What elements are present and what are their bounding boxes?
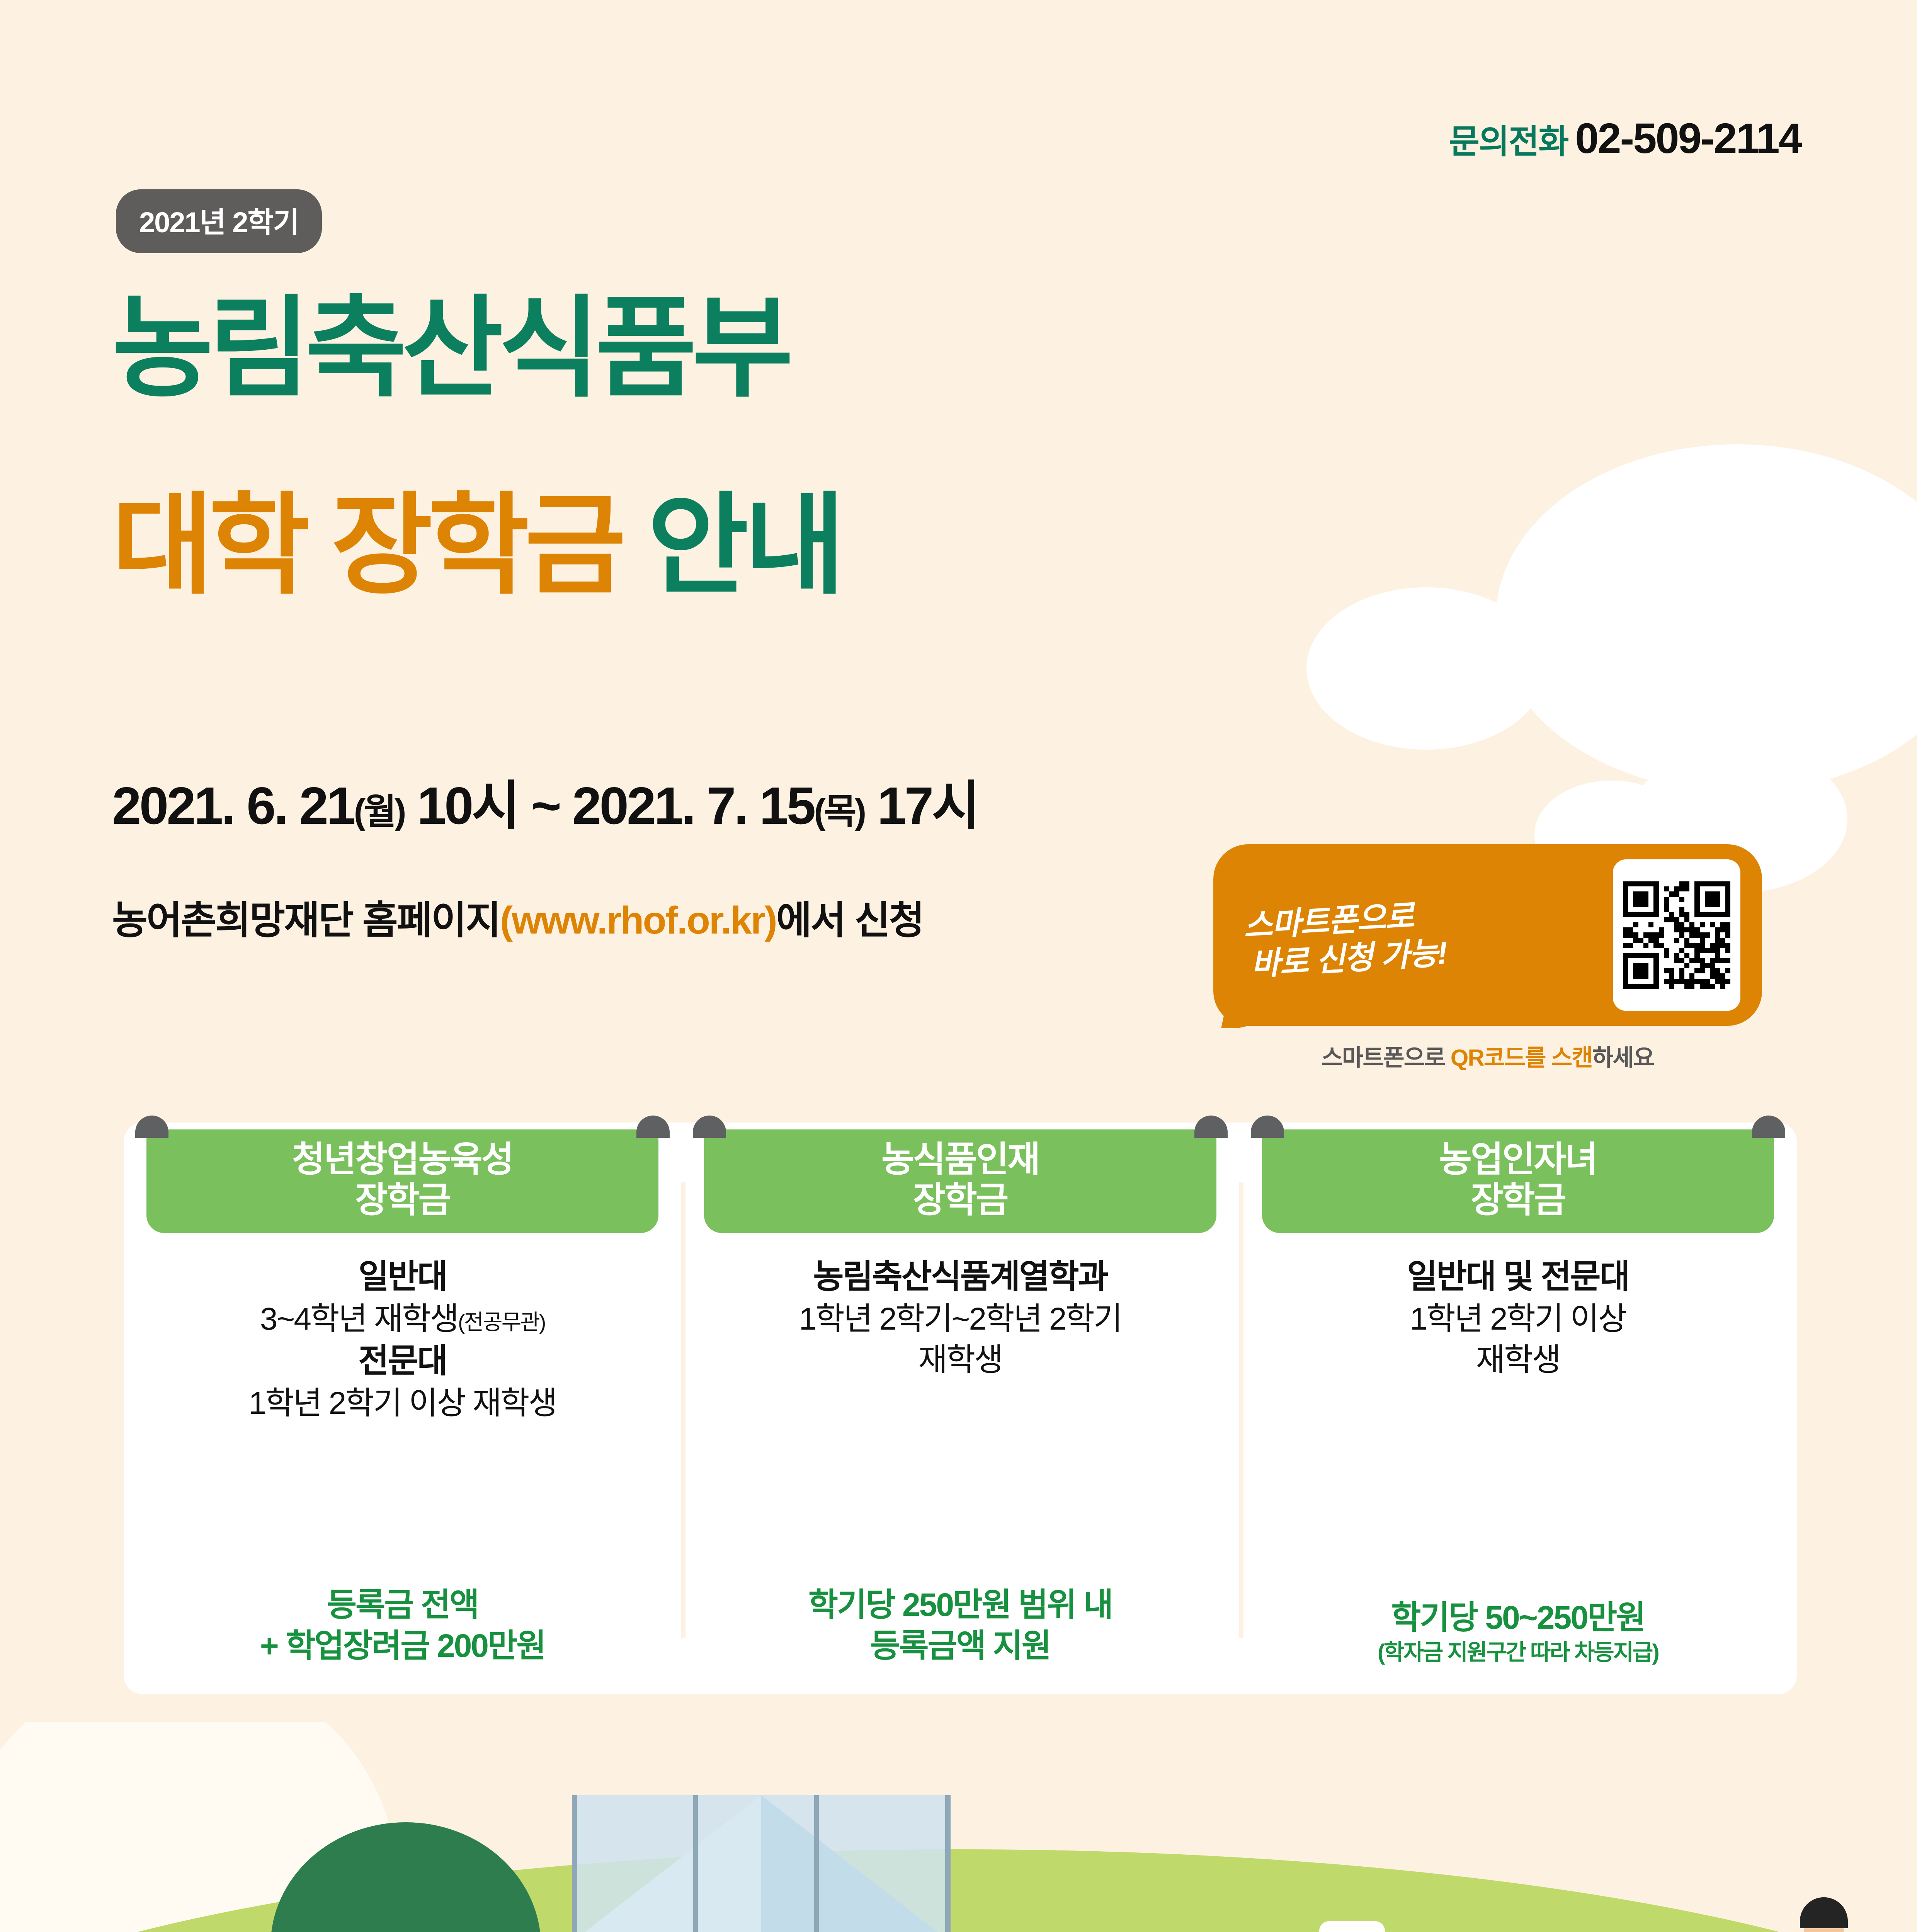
amount-line1: 학기당 250만원 범위 내 — [681, 1585, 1239, 1626]
qr-caption: 스마트폰으로 QR코드를 스캔하세요 — [1213, 1039, 1762, 1073]
qr-caption-suffix: 하세요 — [1592, 1045, 1654, 1071]
qr-code-icon[interactable] — [1623, 881, 1730, 989]
eligibility-line: 1학년 2학기 이상 재학생 — [248, 1383, 556, 1424]
eligibility-line: 농림축산식품계열학과 — [799, 1255, 1121, 1299]
page-title-line1: 농림축산식품부 — [112, 294, 789, 404]
eligibility-line: 3~4학년 재학생(전공무관) — [248, 1299, 556, 1340]
card-pin-icon — [1752, 1116, 1785, 1138]
card-pin-icon — [636, 1116, 670, 1138]
scholarship-card: 농업인자녀장학금일반대 및 전문대1학년 2학기 이상재학생학기당 50~250… — [1239, 1122, 1797, 1694]
phone-number: 02-509-2114 — [1575, 114, 1801, 163]
application-period: 2021. 6. 21(월) 10시 ~ 2021. 7. 15(목) 17시 — [112, 763, 978, 839]
phone-label: 문의전화 — [1449, 114, 1568, 163]
card-header-line1: 농업인자녀 — [1262, 1139, 1774, 1180]
scholarship-card-header: 농업인자녀장학금 — [1262, 1129, 1774, 1233]
cloud-shape-icon — [1306, 587, 1546, 750]
scholarship-card-amount: 학기당 50~250만원(학자금 지원구간 따라 차등지급) — [1239, 1597, 1797, 1667]
page-title-line2: 대학 장학금 안내 — [112, 491, 841, 601]
farmer-feeding-pigs — [1781, 1896, 1886, 1932]
period-start-date: 2021. 6. 21 — [112, 776, 354, 835]
amount-line2: 등록금액 지원 — [681, 1626, 1239, 1667]
poster-root: 문의전화 02-509-2114 2021년 2학기 농림축산식품부 대학 장학… — [0, 0, 1917, 1932]
farmer-feeding-chickens — [1306, 1915, 1414, 1932]
scholarship-card-header: 청년창업농육성장학금 — [146, 1129, 658, 1233]
amount-line2: + 학업장려금 200만원 — [124, 1626, 681, 1667]
apply-prefix: 농어촌희망재단 홈페이지 — [112, 899, 500, 942]
cloud-shape-icon — [1496, 444, 1917, 792]
scholarship-card-eligibility: 일반대3~4학년 재학생(전공무관)전문대1학년 2학기 이상 재학생 — [238, 1255, 567, 1424]
card-header-line1: 농식품인재 — [704, 1139, 1216, 1180]
period-start-day: (월) — [354, 792, 405, 832]
scholarship-card-header: 농식품인재장학금 — [704, 1129, 1216, 1233]
card-pin-icon — [1194, 1116, 1228, 1138]
qr-code-card[interactable] — [1613, 859, 1740, 1011]
scholarship-card-amount: 등록금 전액+ 학업장려금 200만원 — [124, 1585, 681, 1667]
scholarship-card-amount: 학기당 250만원 범위 내등록금액 지원 — [681, 1585, 1239, 1667]
contact-phone: 문의전화 02-509-2114 — [1449, 114, 1801, 163]
page-title-guide: 안내 — [647, 484, 840, 607]
period-end-day: (목) — [814, 792, 864, 832]
scholarship-card-eligibility: 농림축산식품계열학과1학년 2학기~2학년 2학기재학생 — [788, 1255, 1132, 1381]
greenhouse-icon — [572, 1795, 951, 1932]
apply-instruction: 농어촌희망재단 홈페이지(www.rhof.or.kr)에서 신청 — [112, 889, 924, 945]
amount-line1: 학기당 50~250만원 — [1239, 1597, 1797, 1638]
person-hair — [1800, 1897, 1848, 1928]
card-pin-icon — [135, 1116, 168, 1138]
farmer-ladder-picking — [417, 1923, 518, 1932]
sun-hat-icon — [1319, 1921, 1385, 1932]
page-title-scholarship: 대학 장학금 — [112, 484, 621, 607]
period-separator: ~ — [531, 776, 560, 835]
qr-speech-bubble: 스마트폰으로 바로 신청 가능! — [1213, 844, 1762, 1026]
apply-url-link[interactable]: (www.rhof.or.kr) — [500, 899, 776, 942]
amount-line1: 등록금 전액 — [124, 1585, 681, 1626]
eligibility-line: 1학년 2학기 이상 — [1407, 1299, 1629, 1340]
scholarship-card: 농식품인재장학금농림축산식품계열학과1학년 2학기~2학년 2학기재학생학기당 … — [681, 1122, 1239, 1694]
scholarship-cards-panel: 청년창업농육성장학금일반대3~4학년 재학생(전공무관)전문대1학년 2학기 이… — [124, 1122, 1797, 1694]
eligibility-line: 일반대 — [248, 1255, 556, 1299]
qr-caption-prefix: 스마트폰으로 — [1322, 1045, 1451, 1071]
period-end-time: 17시 — [877, 776, 978, 835]
period-end-date: 2021. 7. 15 — [572, 776, 814, 835]
eligibility-line: 재학생 — [799, 1340, 1121, 1381]
eligibility-line: 전문대 — [248, 1340, 556, 1383]
qr-caption-highlight: QR코드를 스캔 — [1451, 1045, 1592, 1071]
card-pin-icon — [1251, 1116, 1284, 1138]
period-start-time: 10시 — [417, 776, 518, 835]
semester-badge: 2021년 2학기 — [116, 189, 322, 253]
apply-suffix: 에서 신청 — [776, 899, 924, 942]
card-header-line2: 장학금 — [146, 1180, 658, 1221]
card-pin-icon — [693, 1116, 726, 1138]
farm-illustration — [0, 1722, 1917, 1932]
eligibility-note: (전공무관) — [458, 1310, 545, 1334]
scholarship-card-eligibility: 일반대 및 전문대1학년 2학기 이상재학생 — [1396, 1255, 1640, 1381]
qr-bubble-text: 스마트폰으로 바로 신청 가능! — [1233, 885, 1615, 985]
card-header-line2: 장학금 — [1262, 1180, 1774, 1221]
card-header-line2: 장학금 — [704, 1180, 1216, 1221]
amount-note: (학자금 지원구간 따라 차등지급) — [1239, 1638, 1797, 1667]
qr-section: 스마트폰으로 바로 신청 가능! 스마트폰으로 QR코드를 스캔하세요 — [1213, 844, 1762, 1073]
eligibility-line: 일반대 및 전문대 — [1407, 1255, 1629, 1299]
eligibility-line: 재학생 — [1407, 1340, 1629, 1381]
scholarship-card: 청년창업농육성장학금일반대3~4학년 재학생(전공무관)전문대1학년 2학기 이… — [124, 1122, 681, 1694]
card-header-line1: 청년창업농육성 — [146, 1139, 658, 1180]
eligibility-line: 1학년 2학기~2학년 2학기 — [799, 1299, 1121, 1340]
